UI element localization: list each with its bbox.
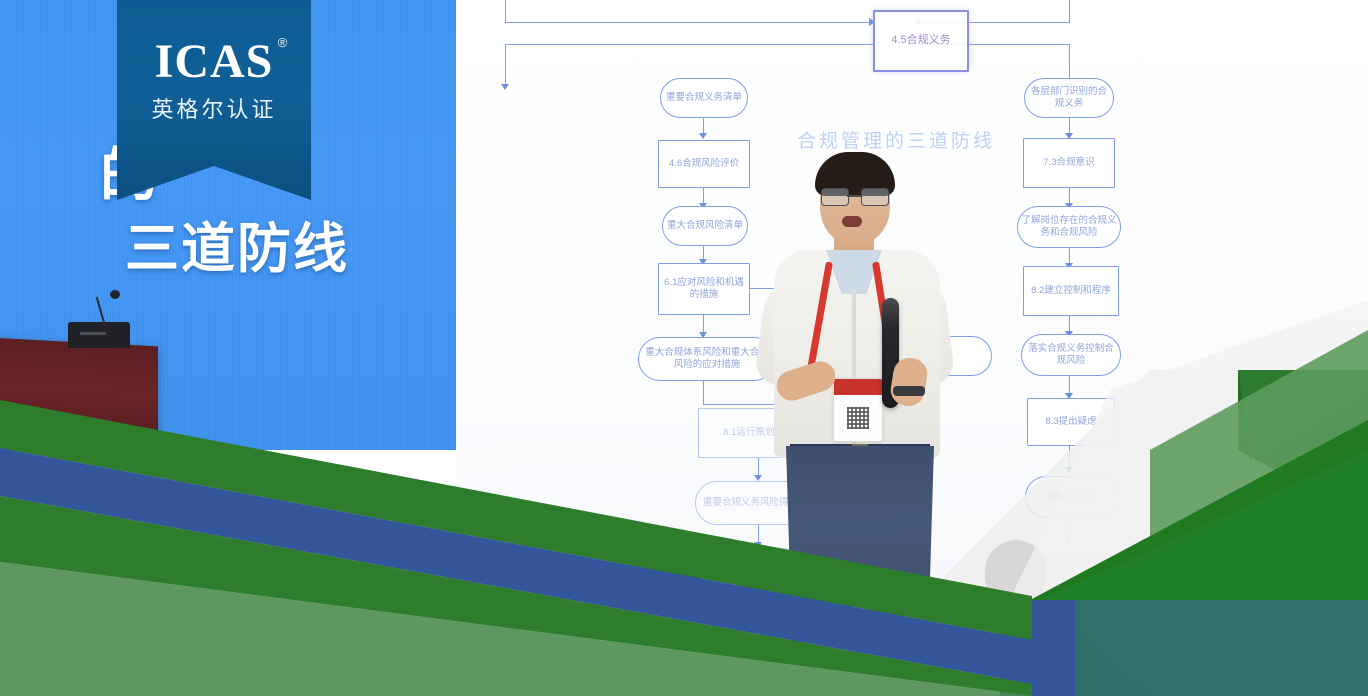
audience-head — [628, 534, 702, 596]
screenshot-stage: 的 三道防线 ICAS® 英格尔认证 合规管理的三道防线 4.5合规义务 重要合… — [0, 0, 1368, 696]
flow-node-right-7: 疑似不合规 — [1025, 476, 1121, 518]
flow-arrow-icon — [699, 133, 707, 139]
flow-node-left-4: 6.1应对风险和机遇的措施 — [658, 263, 750, 315]
flow-line — [1069, 0, 1070, 23]
flow-node-left-5: 重大合规体系风险和重大合规风险的应对措施 — [638, 337, 776, 381]
flow-node-left-2: 4.6合规风险评价 — [658, 140, 750, 188]
flow-node-right-3: 了解岗位存在的合规义务和合规风险 — [1017, 206, 1121, 248]
flow-arrow-icon — [501, 84, 509, 90]
wall-headline-line2: 三道防线 — [125, 204, 349, 283]
flow-node-key: 4.5合规义务 — [873, 10, 969, 72]
icas-banner-subtitle: 英格尔认证 — [117, 92, 311, 124]
flow-node-right-6: 8.3提出疑虑 — [1027, 398, 1115, 446]
icas-logo-wordmark: ICAS® — [155, 38, 274, 86]
flow-line — [505, 44, 875, 45]
flow-node-left-3: 重大合规风险清单 — [662, 206, 748, 246]
flow-arrow-icon — [1065, 467, 1073, 473]
flow-arrow-icon — [1065, 539, 1073, 545]
flow-node-right-1: 各层部门识别的合规义务 — [1024, 78, 1114, 118]
flow-line — [703, 381, 704, 405]
slide-title: 合规管理的三道防线 — [797, 126, 995, 153]
flow-line — [505, 0, 506, 23]
icas-logo-text: ICAS — [155, 35, 274, 88]
podium-console — [68, 322, 130, 348]
speaker-mouth — [842, 216, 862, 227]
registered-trademark-icon: ® — [278, 36, 289, 49]
flow-node-right-4: 8.2建立控制和程序 — [1023, 266, 1119, 316]
name-badge — [833, 378, 883, 442]
qr-code-icon — [847, 407, 869, 429]
speaker-figure — [760, 150, 1010, 620]
eyeglasses-icon — [821, 188, 889, 205]
wristwatch-icon — [893, 386, 925, 396]
lectern-podium — [0, 338, 158, 455]
flow-node-left-1: 重要合规义务清单 — [660, 78, 748, 118]
flow-line — [505, 44, 506, 88]
speaker-trousers — [786, 446, 934, 642]
flow-line — [505, 22, 875, 23]
badge-header — [834, 379, 882, 395]
flow-node-right-5: 落实合规义务控制合规风险 — [1021, 334, 1121, 376]
gooseneck-microphone-head — [110, 290, 120, 299]
flow-node-right-2: 7.3合规意识 — [1023, 138, 1115, 188]
